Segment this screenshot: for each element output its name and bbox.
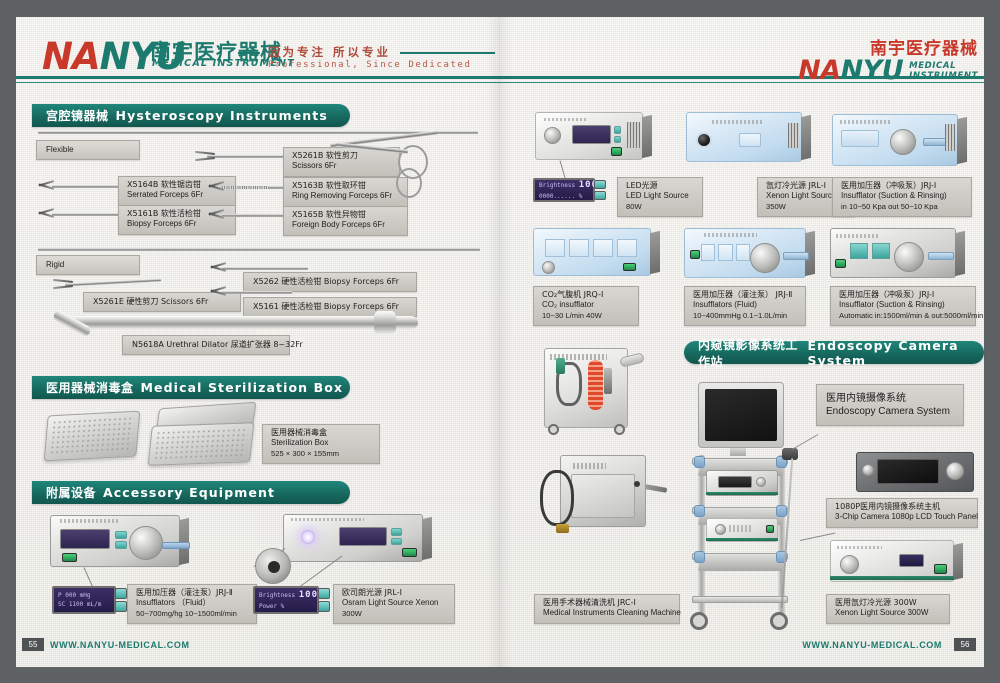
device-teal-button (391, 528, 402, 535)
caption-spec: 10~400mmHg 0.1~1.0L/min (693, 311, 798, 321)
section-title-cn: 内窥镜影像系统工作站 (698, 336, 800, 370)
section-title-cn: 医用器械消毒盒 (46, 379, 134, 396)
section-title-cn: 宫腔镜器械 (46, 107, 109, 124)
instrument-shaft-divider (38, 248, 480, 251)
readout (617, 239, 637, 257)
device-label-strip (729, 525, 751, 532)
trolley-deck-3 (698, 555, 787, 571)
readout (593, 239, 613, 257)
leader-line (792, 434, 818, 450)
lcd-buttons[interactable] (594, 180, 606, 200)
caption-en: Medical Instruments Cleaning Machine (543, 608, 672, 618)
monitor-stand-neck (730, 448, 746, 456)
readout (872, 243, 890, 259)
device-camera-port (946, 462, 964, 480)
device-side (642, 115, 652, 158)
caption-sterilization-box: 医用器械消毒盒 Sterilization Box 525 × 300 × 15… (262, 424, 380, 464)
caption-foreign-body-forceps: X5165B 软性异物钳 Foreign Body Forceps 6Fr (283, 206, 408, 236)
caption-spec: 80W (626, 202, 695, 212)
device-side (953, 543, 963, 580)
device-label-strip (704, 233, 758, 237)
device-vent (627, 122, 640, 148)
trolley-shelf-4 (692, 596, 788, 603)
caption-cn: 医用加压器（灌注泵）JRJ-Ⅱ (136, 588, 249, 598)
trolley-device-camera (706, 470, 778, 496)
page-edge-left (0, 0, 16, 683)
trolley-device-light (706, 518, 778, 542)
endoscopy-monitor (698, 382, 784, 448)
device-insufflator-fluid (50, 515, 180, 567)
lcd-line2: 0000...... % (539, 192, 598, 201)
device-insufflator-suction-rinsing-1 (832, 114, 958, 166)
caption-ring-removing-forceps: X5163B 软性取环钳 Ring Removing Forceps 6Fr (283, 177, 408, 207)
machine-hose (540, 470, 574, 526)
sterilization-box-closed (44, 411, 141, 462)
section-banner-endoscopy: 内窥镜影像系统工作站 Endoscopy Camera System (684, 341, 984, 364)
lcd-text: Brightness 100 0000...... % (535, 179, 598, 202)
caption-cn: X5261B 软性剪刀 (292, 151, 392, 161)
lcd-label: Brightness (259, 592, 295, 599)
group-label-rigid: Rigid (36, 255, 140, 275)
forceps-jaw-icon (208, 181, 224, 192)
caption-cn: X5163B 软性取环钳 (292, 181, 400, 191)
trolley-joint (694, 456, 705, 468)
lcd-text: Brightness 100 Power % (255, 589, 318, 612)
caption-cn: 医用加压器（冲吸泵）JRJ-Ⅰ (839, 290, 968, 300)
readout (701, 244, 715, 261)
device-side (422, 517, 432, 560)
device-power-button (402, 548, 417, 557)
wordmark-red-right: NA (798, 55, 841, 86)
sterilization-box-open (148, 422, 255, 466)
device-side (650, 231, 660, 274)
page-edge-top (0, 0, 1000, 17)
caption-rigid-biopsy-x5262: X5262 硬性活检钳 Biopsy Forceps 6Fr (243, 272, 417, 292)
device-readout-group (850, 243, 890, 259)
section-banner-sterilization: 医用器械消毒盒 Medical Sterilization Box (32, 376, 350, 399)
device-display (60, 529, 109, 550)
cart-nozzle-green (556, 358, 565, 374)
forceps-jaw-icon (208, 209, 224, 220)
caption-cn: 医用内镜摄像系统 (826, 392, 954, 405)
device-insufflator-fluid-2 (684, 228, 806, 278)
page-number-left: 55 (22, 638, 44, 651)
device-touch-panel (877, 459, 938, 484)
device-readout-group (701, 244, 750, 261)
caption-spec: 50~700mg/hg 10~1500ml/min (136, 609, 249, 619)
caption-en: Biopsy Forceps 6Fr (127, 219, 228, 229)
caption-spec: in 10~50 Kpa out 50~10 Kpa (841, 202, 964, 212)
device-knob (862, 464, 874, 476)
device-power-button (62, 553, 78, 562)
device-knob (544, 127, 561, 144)
slogan-en: Professional, Since Dedicated (268, 60, 472, 70)
caption-spec: Automatic in:1500ml/min & out:5000ml/min (839, 311, 968, 321)
device-side (955, 231, 965, 276)
caption-cn: 欧司朗光源 JRL-Ⅰ (342, 588, 447, 598)
caption-cn: 医用手术器械清洗机 JRC-Ⅰ (543, 598, 672, 608)
device-label-strip (291, 518, 364, 521)
section-banner-accessory: 附属设备 Accessory Equipment (32, 481, 350, 504)
caption-spec: 300W (342, 609, 447, 619)
lcd-buttons[interactable] (318, 588, 330, 612)
device-display (572, 125, 611, 143)
section-title-en: Medical Sterilization Box (141, 380, 344, 395)
caption-en: Insufflators (Fluid) (693, 300, 798, 310)
lcd-row: Brightness 100 (539, 179, 598, 193)
caption-en: Xenon Light Source 300W (835, 608, 942, 618)
lcd-line1: P 000 mHg (58, 591, 101, 600)
readout (718, 244, 732, 261)
caption-en: Insufflators （Fluid） (136, 598, 249, 608)
catalog-spread: NANYU 南宇医疗器械 MEDICAL INSTRUMENT 因为专注 所以专… (0, 0, 1000, 683)
rigid-scissors-shaft (65, 278, 161, 286)
perforation-pattern (153, 427, 249, 460)
caption-insufflator-fluid-2: 医用加压器（灌注泵） JRJ-Ⅱ Insufflators (Fluid) 10… (684, 286, 806, 326)
caption-1080p-camera-unit: 1080P医用内镜摄像系统主机 3-Chip Camera 1080p LCD … (826, 498, 978, 528)
camera-head (782, 448, 798, 460)
device-green-stripe (706, 538, 778, 541)
trolley-joint (694, 505, 705, 517)
device-teal-button (614, 136, 622, 143)
lcd-osram-light: Brightness 100 Power % (253, 586, 319, 614)
slogan-cn: 因为专注 所以专业 (268, 44, 391, 60)
cart-hose-red (588, 360, 603, 410)
caption-en: Sterilization Box (271, 438, 372, 448)
device-vent (945, 124, 955, 151)
scissors-tip-icon (195, 152, 215, 160)
device-display (339, 527, 387, 545)
group-label-flexible: Flexible (36, 140, 140, 160)
lcd-line2: Power % (259, 602, 318, 611)
lcd-buttons[interactable] (115, 588, 127, 612)
caption-cn: X5165B 软性异物钳 (292, 210, 400, 220)
device-power-button (611, 147, 623, 156)
rigid-biopsy-shaft-1 (222, 267, 308, 270)
brand-subtitle-right: MEDICAL INSTRUMENT (909, 62, 978, 84)
caption-en: LED Light Source (626, 191, 695, 201)
trolley-joint (694, 551, 705, 563)
device-teal-button (614, 126, 622, 133)
forceps-jaw-icon (38, 180, 54, 191)
device-xenon-300w (830, 540, 954, 582)
caption-spec: 525 × 300 × 155mm (271, 449, 372, 459)
caption-en: Foreign Body Forceps 6Fr (292, 220, 400, 230)
device-label-strip (712, 120, 764, 124)
device-display (718, 476, 753, 488)
trolley-joint (776, 505, 787, 517)
machine-label-strip (573, 463, 607, 469)
device-readout-group (545, 239, 637, 257)
urethral-dilator-body (68, 316, 418, 329)
trolley-caster-left (690, 612, 708, 630)
readout (850, 243, 868, 259)
device-light-knob (840, 555, 859, 574)
device-tube-connector (783, 252, 809, 260)
caption-cn: LED光源 (626, 181, 695, 191)
group-label-rigid-text: Rigid (46, 260, 130, 270)
adapter-aperture (268, 561, 280, 573)
cart-spray-gun (604, 368, 612, 394)
trolley-pole-left (698, 455, 705, 615)
caption-cn: 医用加压器（冲吸泵）JRJ-Ⅰ (841, 181, 964, 191)
lcd-insufflator-fluid: P 000 mHg SC 1100 mL/m (52, 586, 116, 614)
forceps-jaw-icon (210, 262, 226, 273)
section-title-en: Hysteroscopy Instruments (116, 108, 328, 123)
instrument-coil-ring (222, 186, 272, 189)
device-display (841, 130, 879, 148)
device-power-button (623, 263, 636, 272)
lcd-text: P 000 mHg SC 1100 mL/m (54, 591, 101, 609)
readout (736, 244, 750, 261)
perforation-pattern (49, 416, 135, 456)
caption-en: Ring Removing Forceps 6Fr (292, 191, 400, 201)
caption-en: 3-Chip Camera 1080p LCD Touch Panel (835, 512, 970, 522)
section-banner-hysteroscopy: 宫腔镜器械 Hysteroscopy Instruments (32, 104, 350, 127)
section-title-en: Accessory Equipment (103, 485, 275, 500)
caption-cleaning-machine: 医用手术器械清洗机 JRC-Ⅰ Medical Instruments Clea… (534, 594, 680, 624)
device-led-light-source (535, 112, 643, 160)
cart-caster (548, 424, 559, 435)
device-xenon-light-source (686, 112, 802, 162)
group-label-flexible-text: Flexible (46, 145, 130, 155)
device-teal-button (115, 541, 127, 549)
caption-insufflator-suction-rinsing-1: 医用加压器（冲吸泵）JRJ-Ⅰ Insufflator (Suction & R… (832, 177, 972, 217)
slogan-rule-right (400, 52, 495, 54)
caption-en: Insufflator (Suction & Rinsing) (841, 191, 964, 201)
light-guide-adapter (255, 548, 291, 584)
caption-text: N5618A Urethral Dilator 尿道扩张器 8~32Fr (132, 340, 280, 350)
caption-xenon-300w: 医用氙灯冷光源 300W Xenon Light Source 300W (826, 594, 950, 624)
device-label-strip (60, 519, 119, 523)
trolley-caster-right (770, 612, 788, 630)
readout (545, 239, 565, 257)
page-number-right: 56 (954, 638, 976, 651)
device-green-stripe (706, 492, 778, 495)
caption-cn: 医用氙灯冷光源 300W (835, 598, 942, 608)
caption-en: Insufflator (Suction & Rinsing) (839, 300, 968, 310)
caption-en: Scissors 6Fr (292, 161, 392, 171)
caption-spec: 10~30 L/min 40W (542, 311, 631, 321)
machine-handle (645, 484, 668, 493)
caption-insufflator-suction-rinsing-2: 医用加压器（冲吸泵）JRJ-Ⅰ Insufflator (Suction & R… (830, 286, 976, 326)
caption-en: Osram Light Source Xenon (342, 598, 447, 608)
wordmark-red: NA (42, 35, 100, 78)
caption-flexible-scissors: X5261B 软性剪刀 Scissors 6Fr (283, 147, 400, 177)
wordmark-teal-right: NYU (841, 55, 904, 86)
lcd-label: Brightness (539, 182, 575, 189)
device-tube-connector (928, 252, 954, 260)
caption-insufflator-fluid: 医用加压器（灌注泵）JRJ-Ⅱ Insufflators （Fluid） 50~… (127, 584, 257, 624)
device-teal-button (391, 538, 402, 545)
caption-endoscopy-camera-system: 医用内镜摄像系统 Endoscopy Camera System (816, 384, 964, 426)
brand-sub-line2: INSTRUMENT (909, 72, 978, 82)
caption-en: CO₂ insufflator (542, 300, 631, 310)
page-edge-right (984, 0, 1000, 683)
page-gutter-shadow (487, 17, 513, 667)
caption-text: X5262 硬性活检钳 Biopsy Forceps 6Fr (253, 277, 407, 287)
caption-urethral-dilator: N5618A Urethral Dilator 尿道扩张器 8~32Fr (122, 335, 290, 355)
device-tube-connector (162, 542, 190, 549)
device-1080p-camera-unit (856, 452, 974, 492)
forceps-ring-handle (396, 168, 422, 198)
device-label-strip (840, 120, 890, 124)
monitor-screen (705, 389, 777, 441)
caption-osram-light-source: 欧司朗光源 JRL-Ⅰ Osram Light Source Xenon 300… (333, 584, 455, 624)
forceps-jaw-icon (38, 208, 54, 219)
device-power-button (766, 525, 773, 533)
section-title-cn: 附属设备 (46, 484, 96, 501)
readout (569, 239, 589, 257)
device-pump-knob (890, 129, 916, 155)
lcd-line2: SC 1100 mL/m (58, 600, 101, 609)
device-panel-inset (739, 133, 761, 147)
device-side (801, 115, 811, 160)
caption-led-light-source: LED光源 LED Light Source 80W (617, 177, 703, 217)
device-label-strip (836, 234, 879, 238)
device-power-button (934, 564, 946, 574)
device-green-stripe (830, 576, 954, 580)
device-knob (542, 261, 555, 274)
caption-text: X5261E 硬性剪刀 Scissors 6Fr (93, 297, 231, 307)
slogan-rule-left (238, 52, 260, 54)
device-teal-button (115, 531, 127, 539)
device-power-button (690, 250, 700, 259)
device-osram-light-source (283, 514, 423, 562)
lcd-row: Brightness 100 (259, 589, 318, 603)
machine-hose-fitting (556, 524, 569, 533)
caption-cn: CO₂气腹机 JRQ-Ⅰ (542, 290, 631, 300)
caption-cn: 医用器械消毒盒 (271, 428, 372, 438)
urethral-dilator-collar (374, 311, 396, 334)
device-insufflator-suction-rinsing-2 (830, 228, 956, 278)
device-pump-knob (750, 243, 780, 273)
brand-wordmark-right: NANYU (798, 57, 903, 84)
machine-indicator (634, 481, 640, 487)
lcd-led-light: Brightness 100 0000...... % (533, 178, 595, 202)
machine-door (571, 474, 635, 517)
caption-cn: 医用加压器（灌注泵） JRJ-Ⅱ (693, 290, 798, 300)
device-label-strip (837, 546, 882, 549)
device-side (957, 117, 967, 164)
page-edge-bottom (0, 667, 1000, 683)
device-display (899, 554, 924, 567)
forceps-jaw-icon (210, 286, 226, 297)
device-vent (788, 123, 798, 148)
device-label-strip (544, 118, 587, 121)
section-title-en: Endoscopy Camera System (807, 338, 984, 368)
device-power-button (835, 259, 846, 268)
lcd-value: 100 (299, 590, 318, 600)
cart-caster (614, 424, 625, 435)
scissors-tip-icon (53, 280, 73, 288)
device-co2-insufflator (533, 228, 651, 276)
footer-url-left: WWW.NANYU-MEDICAL.COM (50, 640, 190, 650)
brand-logo-right: 南宇医疗器械 NANYU MEDICAL INSTRUMENT (798, 34, 978, 84)
rigid-biopsy-shaft-2 (222, 291, 292, 294)
device-knob (715, 524, 726, 535)
caption-co2-insufflator: CO₂气腹机 JRQ-Ⅰ CO₂ insufflator 10~30 L/min… (533, 286, 639, 326)
caption-cn: 1080P医用内镜摄像系统主机 (835, 502, 970, 512)
footer-url-right: WWW.NANYU-MEDICAL.COM (802, 640, 942, 650)
caption-en: Endoscopy Camera System (826, 405, 954, 418)
